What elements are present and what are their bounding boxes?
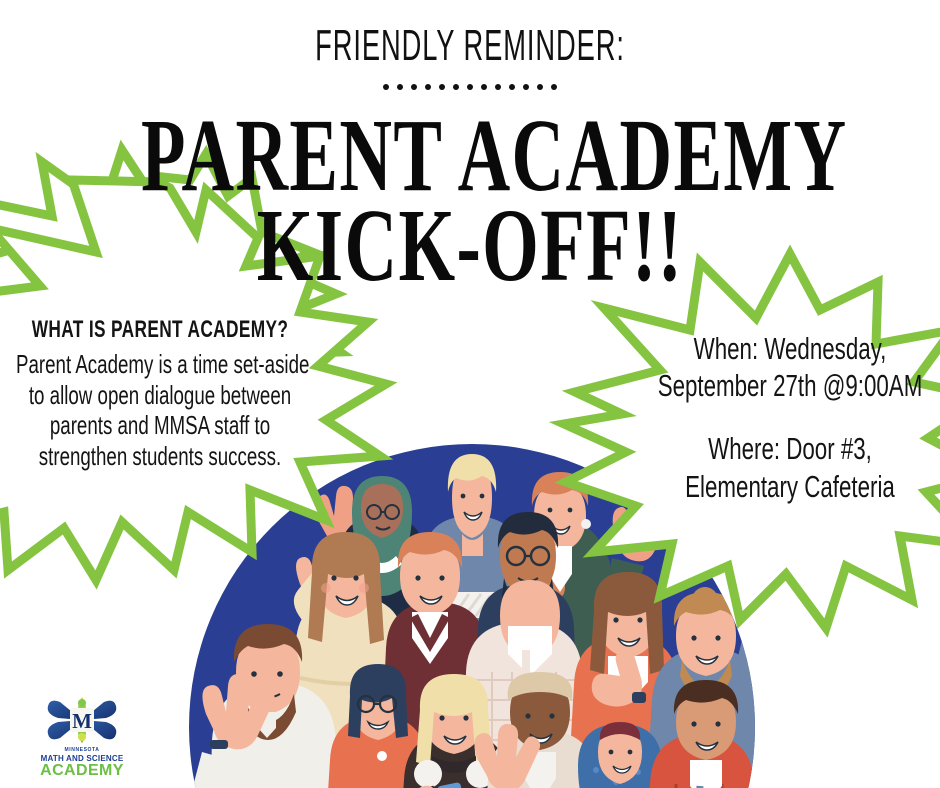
left-burst-body-line: parents and MMSA staff to xyxy=(16,410,304,441)
divider-dot xyxy=(551,84,557,90)
divider-dot xyxy=(397,84,403,90)
event-when-line: When: Wednesday, xyxy=(632,330,940,367)
divider-dot xyxy=(425,84,431,90)
logo-wordmark: MINNESOTA MATH AND SCIENCE ACADEMY xyxy=(34,747,130,780)
left-burst-text-block: WHAT IS PARENT ACADEMY? Parent Academy i… xyxy=(16,316,304,472)
logo-line-state: MINNESOTA xyxy=(34,747,130,753)
headline-block: FRIENDLY REMINDER: PARENT ACADEMY KICK-O… xyxy=(0,0,940,293)
dotted-divider-icon xyxy=(0,80,940,94)
logo-line-academy: ACADEMY xyxy=(34,763,130,780)
event-where-line: Where: Door #3, xyxy=(632,430,940,467)
school-logo: M MINNESOTA MATH AND SCIENCE ACADEMY xyxy=(34,694,130,780)
flyer-canvas: FRIENDLY REMINDER: PARENT ACADEMY KICK-O… xyxy=(0,0,940,788)
event-where: Where: Door #3, Elementary Cafeteria xyxy=(632,430,940,504)
page-title: PARENT ACADEMY KICK-OFF!! xyxy=(0,108,940,293)
event-when-line: September 27th @9:00AM xyxy=(632,367,940,404)
title-line-2: KICK-OFF!! xyxy=(141,198,799,294)
left-burst-body-line: strengthen students success. xyxy=(16,441,304,472)
logo-monogram: M xyxy=(72,709,92,733)
divider-dot xyxy=(453,84,459,90)
left-burst-body: Parent Academy is a time set-aside to al… xyxy=(16,349,304,472)
reminder-label: FRIENDLY REMINDER: xyxy=(179,24,762,68)
divider-dot xyxy=(481,84,487,90)
left-burst-heading: WHAT IS PARENT ACADEMY? xyxy=(16,316,304,344)
divider-dot xyxy=(467,84,473,90)
left-burst-body-line: Parent Academy is a time set-aside xyxy=(16,349,304,380)
right-burst-text-block: When: Wednesday, September 27th @9:00AM … xyxy=(632,330,940,505)
divider-dot xyxy=(383,84,389,90)
left-burst-body-line: to allow open dialogue between xyxy=(16,380,304,411)
divider-dot xyxy=(523,84,529,90)
event-when: When: Wednesday, September 27th @9:00AM xyxy=(632,330,940,404)
divider-dot xyxy=(411,84,417,90)
divider-dot xyxy=(509,84,515,90)
divider-dot xyxy=(495,84,501,90)
divider-dot xyxy=(439,84,445,90)
mmsa-atom-logo-icon: M xyxy=(34,694,130,746)
event-where-line: Elementary Cafeteria xyxy=(632,468,940,505)
divider-dot xyxy=(537,84,543,90)
